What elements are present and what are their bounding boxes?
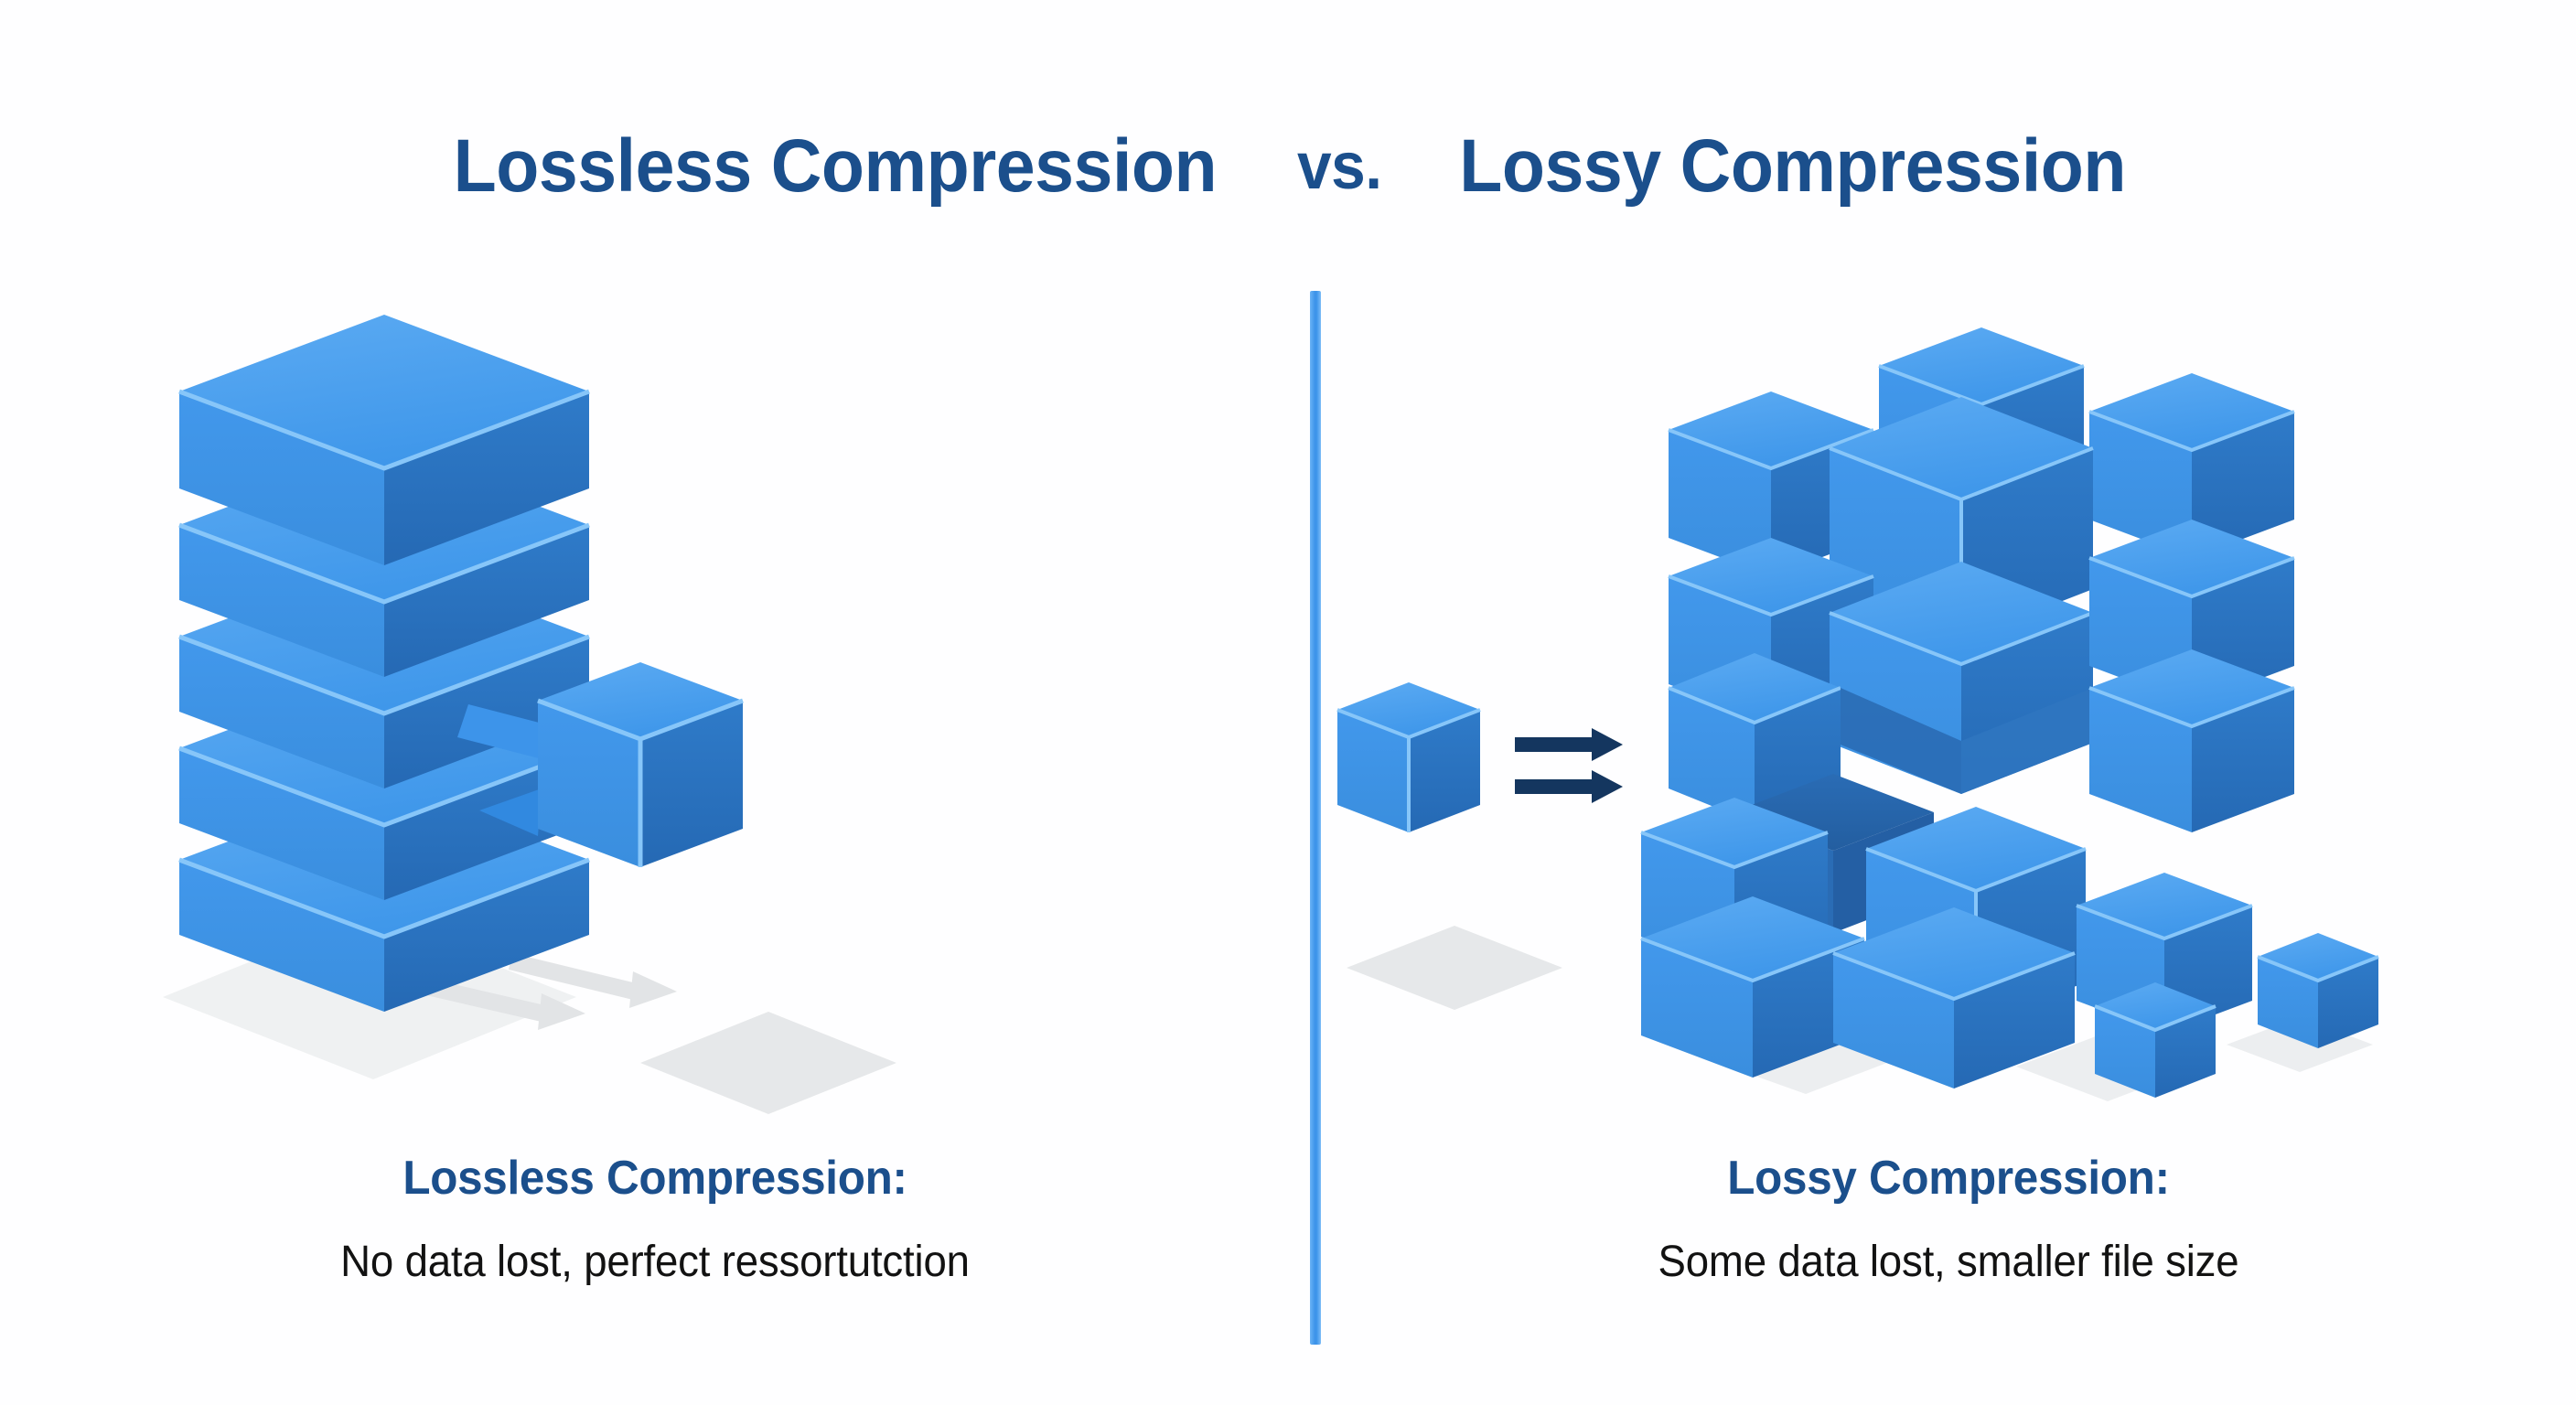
lossy-caption-heading: Lossy Compression: [1352, 1151, 2544, 1206]
vertical-divider [1310, 291, 1321, 1345]
input-cube [1337, 682, 1480, 832]
lossy-svg [1321, 274, 2576, 1116]
ghost-diamond [640, 1012, 896, 1114]
double-arrow-right-icon [1515, 728, 1623, 803]
lossless-caption-subtitle: No data lost, perfect ressortutction [33, 1237, 1277, 1287]
panel-lossy: Lossy Compression: Some data lost, small… [1321, 0, 2576, 1405]
cluster-cube [2089, 649, 2294, 832]
slab-stack [179, 315, 589, 1012]
lossy-illustration [1321, 274, 2576, 1116]
lossy-cube-cluster-upper [1669, 327, 2294, 832]
panel-lossless: Lossless Compression: No data lost, perf… [0, 0, 1310, 1405]
cluster-cube-small [2095, 982, 2216, 1098]
compressed-cube [538, 662, 743, 867]
lossless-illustration [0, 274, 1310, 1116]
ghost-diamond [1347, 926, 1562, 1010]
lossy-caption-subtitle: Some data lost, smaller file size [1352, 1237, 2544, 1287]
cluster-cube-small [2258, 933, 2378, 1048]
lossless-svg [0, 274, 1310, 1116]
lossless-caption-heading: Lossless Compression: [33, 1151, 1277, 1206]
